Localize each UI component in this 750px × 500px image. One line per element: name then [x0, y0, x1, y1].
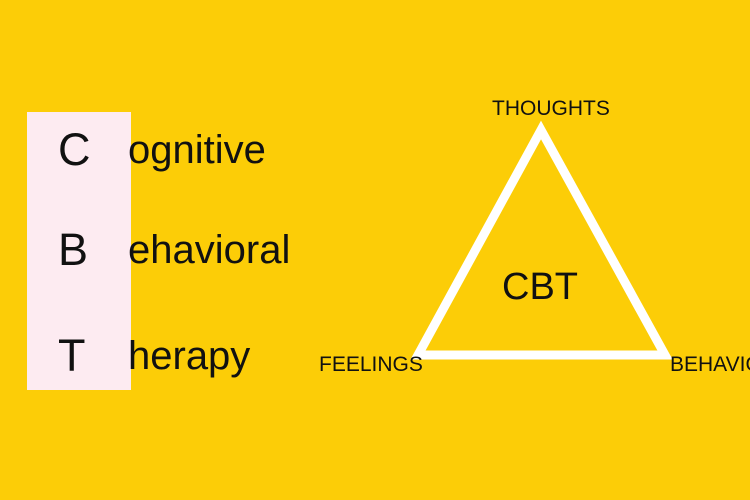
cbt-triangle-diagram: THOUGHTS FEELINGS BEHAVIOR CBT: [300, 80, 750, 410]
acronym-initial-c: C: [58, 120, 130, 180]
triangle-vertex-label-thoughts: THOUGHTS: [492, 97, 610, 121]
acronym-initial-b: B: [58, 220, 130, 280]
acronym-panel: C ognitive B ehavioral T herapy: [0, 0, 320, 500]
acronym-word-therapy: herapy: [128, 326, 250, 386]
acronym-row-behavioral: B ehavioral: [0, 220, 320, 280]
triangle-vertex-label-feelings: FEELINGS: [319, 353, 423, 377]
acronym-word-behavioral: ehavioral: [128, 220, 290, 280]
acronym-word-cognitive: ognitive: [128, 120, 266, 180]
cbt-infographic-canvas: C ognitive B ehavioral T herapy THOUGHTS…: [0, 0, 750, 500]
acronym-row-therapy: T herapy: [0, 326, 320, 386]
acronym-initial-t: T: [58, 326, 130, 386]
triangle-vertex-label-behavior: BEHAVIOR: [670, 353, 750, 377]
triangle-center-label-cbt: CBT: [490, 265, 590, 309]
acronym-row-cognitive: C ognitive: [0, 120, 320, 180]
